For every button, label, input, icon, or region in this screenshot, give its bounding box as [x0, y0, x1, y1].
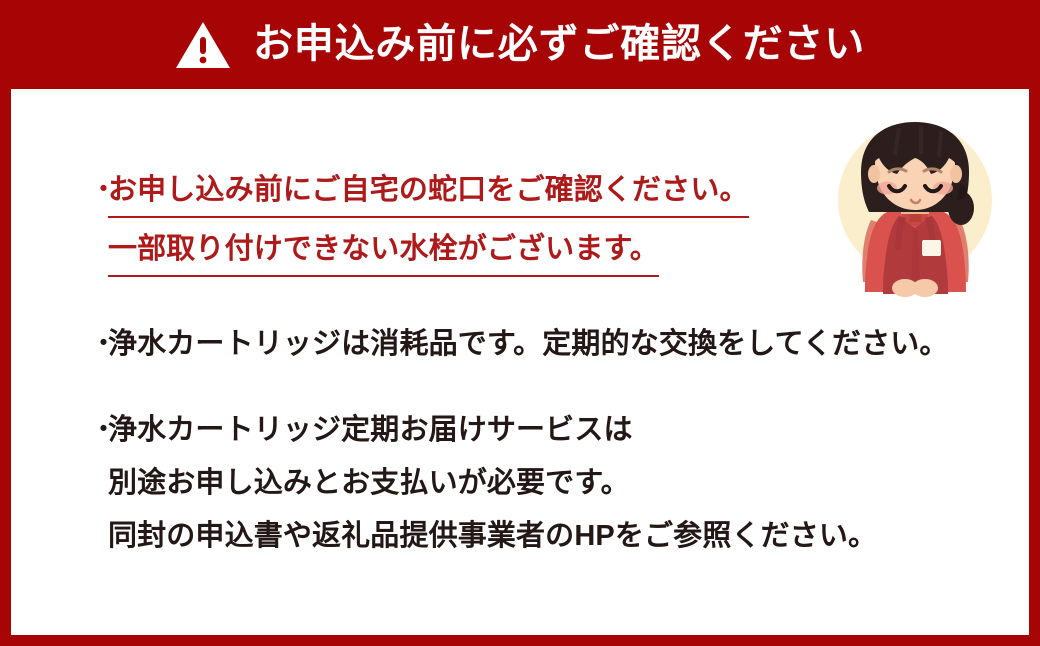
bullet-marker: ・ — [89, 167, 109, 214]
notice-lines: 浄水カートリッジ定期お届けサービスは 別途お申し込みとお支払いが必要です。 同封… — [89, 407, 989, 560]
notice-line: お申し込み前にご自宅の蛇口をご確認ください。 — [108, 167, 749, 218]
notice-line: 別途お申し込みとお支払いが必要です。 — [108, 460, 989, 507]
notice-lines: 浄水カートリッジは消耗品です。定期的な交換をしてください。 — [89, 321, 989, 368]
notice-line: 一部取り付けできない水栓がございます。 — [108, 226, 659, 277]
notice-lines: お申し込み前にご自宅の蛇口をご確認ください。 一部取り付けできない水栓がございま… — [89, 167, 989, 285]
notice-line: 浄水カートリッジ定期お届けサービスは — [108, 407, 989, 454]
page-title: お申込み前に必ずご確認ください — [253, 24, 865, 64]
notice-item: ・ 浄水カートリッジは消耗品です。定期的な交換をしてください。 — [89, 321, 989, 368]
bullet-marker: ・ — [89, 407, 109, 454]
notice-item: ・ お申し込み前にご自宅の蛇口をご確認ください。 一部取り付けできない水栓がござ… — [89, 167, 989, 285]
notice-line: 同封の申込書や返礼品提供事業者のHPをご参照ください。 — [108, 513, 989, 560]
bullet-marker: ・ — [89, 321, 109, 368]
notice-item: ・ 浄水カートリッジ定期お届けサービスは 別途お申し込みとお支払いが必要です。 … — [89, 407, 989, 560]
notice-banner-page: お申込み前に必ずご確認ください — [0, 0, 1040, 646]
warning-triangle-icon — [175, 20, 231, 70]
header-banner: お申込み前に必ずご確認ください — [0, 0, 1040, 89]
notice-line: 浄水カートリッジは消耗品です。定期的な交換をしてください。 — [108, 321, 989, 368]
notice-list: ・ お申し込み前にご自宅の蛇口をご確認ください。 一部取り付けできない水栓がござ… — [89, 167, 989, 566]
content-panel: ・ お申し込み前にご自宅の蛇口をご確認ください。 一部取り付けできない水栓がござ… — [11, 89, 1029, 635]
